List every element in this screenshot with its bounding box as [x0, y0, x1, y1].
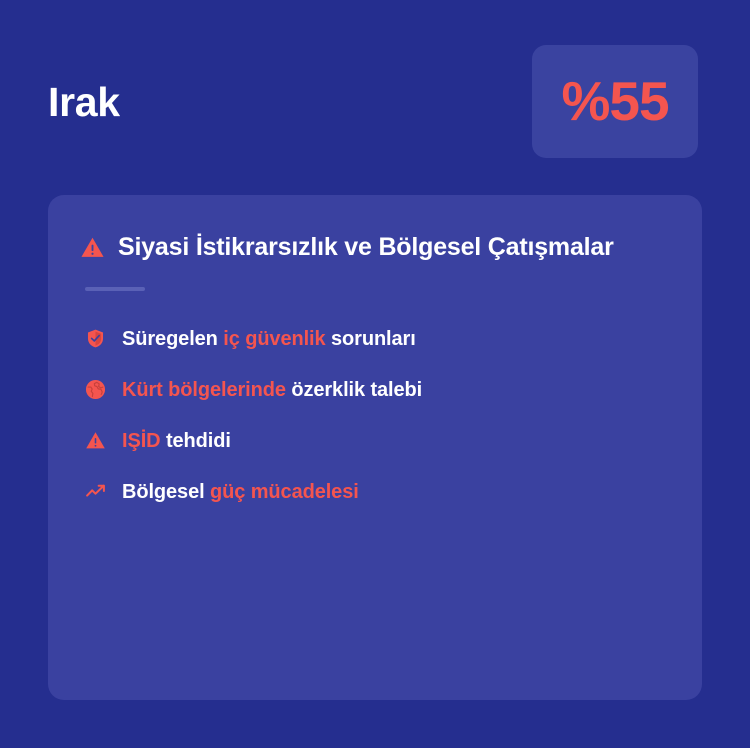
risk-card-title: Siyasi İstikrarsızlık ve Bölgesel Çatışm… [118, 231, 614, 263]
trending-up-icon [85, 481, 106, 502]
warning-triangle-icon [80, 235, 105, 260]
list-item: Bölgesel güç mücadelesi [80, 466, 672, 517]
list-item: Süregelen iç güvenlik sorunları [80, 313, 672, 364]
list-item: IŞİD tehdidi [80, 415, 672, 466]
list-item-label: Kürt bölgelerinde özerklik talebi [122, 377, 422, 403]
list-item-label: IŞİD tehdidi [122, 428, 231, 454]
page-title: Irak [48, 76, 120, 128]
list-item-label: Bölgesel güç mücadelesi [122, 479, 359, 505]
list-item: Kürt bölgelerinde özerklik talebi [80, 364, 672, 415]
globe-icon [85, 379, 106, 400]
warning-triangle-icon [85, 430, 106, 451]
page-header: Irak %55 [0, 0, 750, 195]
shield-icon [85, 328, 106, 349]
list-item-label: Süregelen iç güvenlik sorunları [122, 326, 416, 352]
risk-card: Siyasi İstikrarsızlık ve Bölgesel Çatışm… [48, 195, 702, 700]
header-divider [85, 287, 145, 291]
risk-list: Süregelen iç güvenlik sorunları Kürt böl… [80, 313, 672, 517]
risk-card-header: Siyasi İstikrarsızlık ve Bölgesel Çatışm… [80, 229, 672, 265]
risk-percentage-badge: %55 [532, 45, 698, 158]
risk-percentage-value: %55 [561, 74, 668, 129]
